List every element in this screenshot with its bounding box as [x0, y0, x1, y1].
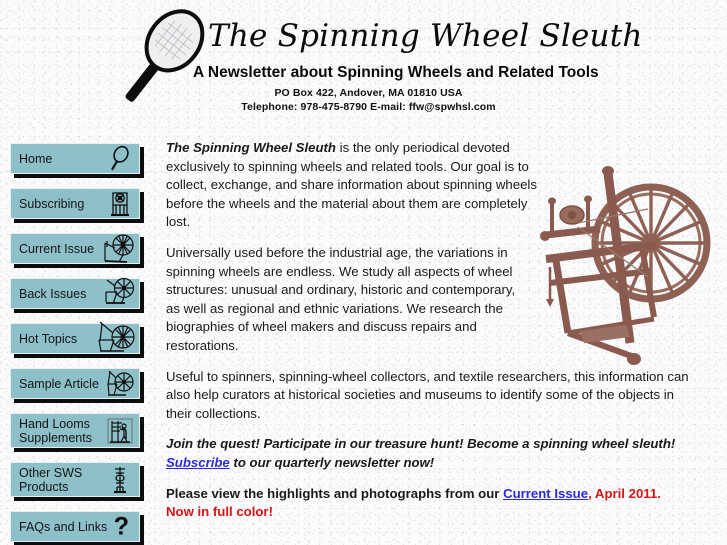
spinning-wheel-icon: [101, 366, 137, 402]
magnifying-glass-icon: [105, 144, 135, 174]
site-address: PO Box 422, Andover, MA 01810 USA: [0, 87, 727, 99]
intro-lead: The Spinning Wheel Sleuth: [166, 140, 336, 155]
sidebar-item-sample-article[interactable]: Sample Article: [10, 368, 140, 399]
highlight-before: Please view the highlights and photograp…: [166, 486, 503, 501]
site-contact: Telephone: 978-475-8790 E-mail: ffw@spwh…: [0, 101, 727, 113]
hand-loom-icon: [105, 416, 135, 446]
site-subtitle: A Newsletter about Spinning Wheels and R…: [193, 64, 599, 82]
sidebar-item-label: Current Issue: [19, 242, 94, 256]
sidebar-item-label: Back Issues: [19, 287, 86, 301]
spinning-wheel-icon: [105, 189, 135, 219]
sidebar-item-label: Home: [19, 152, 52, 166]
sidebar-item-label: FAQs and Links: [19, 520, 107, 534]
sidebar-item-label: Subscribing: [19, 197, 84, 211]
sidebar-item-subscribing[interactable]: Subscribing: [10, 188, 140, 219]
site-header: The Spinning Wheel Sleuth A Newsletter a…: [0, 0, 727, 128]
subscribe-link[interactable]: Subscribe: [166, 455, 230, 470]
loom-tool-icon: [105, 465, 135, 495]
page-title: The Spinning Wheel Sleuth: [208, 18, 643, 54]
sidebar-nav: Home Subscribing Curre: [0, 137, 160, 545]
sidebar-item-home[interactable]: Home: [10, 143, 140, 174]
question-mark-icon: ?: [114, 512, 129, 541]
paragraph-3: Useful to spinners, spinning-wheel colle…: [166, 368, 696, 424]
current-issue-link[interactable]: Current Issue: [503, 486, 588, 501]
spinning-wheel-icon: [101, 231, 137, 267]
paragraph-2b: as well as regional and ethnic variation…: [166, 300, 544, 356]
sidebar-item-label: Other SWS Products: [19, 466, 82, 494]
highlight-after: , April 2011.: [588, 486, 661, 501]
highlight-tagline: Now in full color!: [166, 504, 273, 519]
paragraph-2: Universally used before the industrial a…: [166, 244, 544, 300]
main-content: The Spinning Wheel Sleuth is the only pe…: [166, 139, 722, 534]
sidebar-item-label: Hand Looms Supplements: [19, 417, 92, 445]
magnifying-glass-icon: [120, 4, 220, 116]
sidebar-item-label: Sample Article: [19, 377, 99, 391]
spinning-wheel-icon: [101, 276, 137, 312]
highlight-block: Please view the highlights and photograp…: [166, 485, 718, 522]
sidebar-item-current-issue[interactable]: Current Issue: [10, 233, 140, 264]
sidebar-item-back-issues[interactable]: Back Issues: [10, 278, 140, 309]
intro-paragraph: The Spinning Wheel Sleuth is the only pe…: [166, 139, 544, 232]
cta-before: Join the quest! Participate in our treas…: [166, 436, 675, 451]
sidebar-item-faqs-and-links[interactable]: FAQs and Links ?: [10, 511, 140, 542]
call-to-action: Join the quest! Participate in our treas…: [166, 435, 686, 472]
sidebar-item-other-sws-products[interactable]: Other SWS Products: [10, 462, 140, 497]
spinning-wheel-icon: [97, 320, 137, 358]
sidebar-item-hand-looms-supplements[interactable]: Hand Looms Supplements: [10, 413, 140, 448]
sidebar-item-label: Hot Topics: [19, 332, 77, 346]
cta-after: to our quarterly newsletter now!: [230, 455, 434, 470]
sidebar-item-hot-topics[interactable]: Hot Topics: [10, 323, 140, 354]
